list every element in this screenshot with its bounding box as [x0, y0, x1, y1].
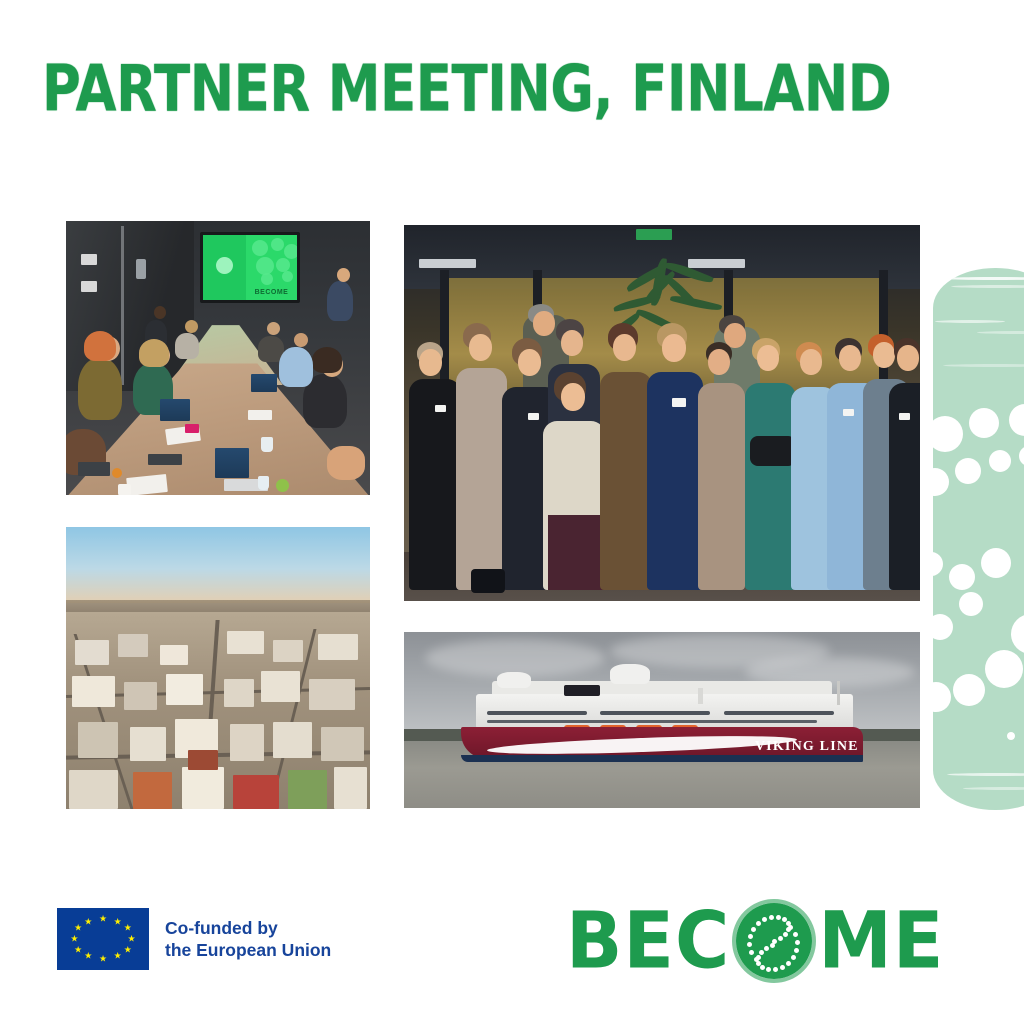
aerial-city-photo	[66, 527, 370, 809]
viking-line-ferry-photo: VIKING LINE	[404, 632, 920, 808]
screen-become-label: BECOME	[255, 289, 289, 296]
eu-funding-line-2: the European Union	[165, 939, 331, 961]
exit-sign	[636, 229, 672, 240]
become-text-before: BEC	[566, 902, 730, 980]
become-logo: BEC ME	[566, 900, 944, 982]
eu-cofunding-logo: Co-funded by the European Union	[57, 908, 331, 970]
become-spiral-icon	[732, 899, 816, 983]
meeting-room-photo: BECOME	[66, 221, 370, 495]
swirl-decoration-panel	[933, 268, 1024, 810]
page-title: PARTNER MEETING, FINLAND	[42, 58, 891, 122]
become-text-after: ME	[818, 902, 944, 980]
eu-flag-icon	[57, 908, 149, 970]
eu-funding-line-1: Co-funded by	[165, 917, 331, 939]
group-photo	[404, 225, 920, 601]
eu-funding-text: Co-funded by the European Union	[165, 917, 331, 962]
presentation-screen: BECOME	[200, 232, 300, 303]
ship-brand-label: VIKING LINE	[755, 739, 859, 755]
